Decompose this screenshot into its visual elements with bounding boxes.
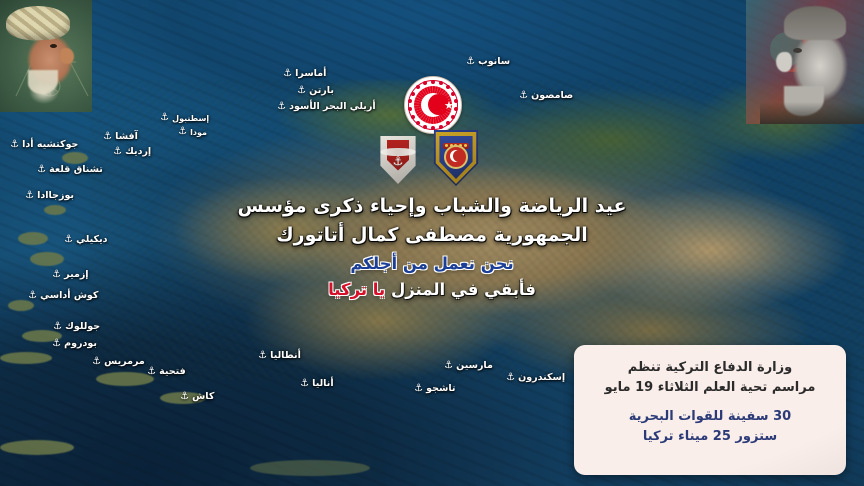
port-label-moda[interactable]: مودا⚓: [178, 127, 207, 137]
port-label-sinop[interactable]: سانوب⚓: [466, 56, 510, 67]
port-label-mersin[interactable]: مارسين⚓: [444, 360, 493, 371]
anchor-icon: ⚓: [113, 147, 122, 157]
island: [250, 460, 370, 476]
anchor-icon: ⚓: [444, 361, 453, 371]
anchor-icon: ⚓: [53, 322, 62, 332]
port-label-avsa[interactable]: آفشا⚓: [103, 131, 138, 142]
anchor-icon: ⚓: [103, 132, 112, 142]
anchor-icon: ⚓: [466, 57, 475, 67]
headline-line-3-blue: نحن نعمل من أجلكم: [0, 252, 864, 277]
portrait-nose: [60, 48, 74, 64]
port-name: تشناق قلعة: [49, 164, 103, 175]
port-label-alanya[interactable]: أناليا⚓: [300, 378, 334, 389]
anchor-icon: ⚓: [92, 357, 101, 367]
port-name: أناليا: [312, 378, 333, 389]
port-label-marmaris[interactable]: مرمريس⚓: [92, 356, 145, 367]
island: [62, 152, 88, 164]
info-card: وزارة الدفاع التركية تنظم مراسم تحية الع…: [574, 345, 846, 475]
island: [96, 372, 154, 386]
anchor-icon: ⚓: [178, 127, 187, 137]
anchor-icon: ⚓: [506, 373, 515, 383]
port-label-guluk[interactable]: جوللوك⚓: [53, 321, 100, 332]
headline-line-1: عيد الرياضة والشباب وإحياء ذكرى مؤسس: [0, 192, 864, 221]
info-top-line-1: وزارة الدفاع التركية تنظم: [588, 358, 832, 378]
port-name: بارتن: [309, 85, 334, 96]
anchor-icon: ⚓: [52, 339, 61, 349]
port-label-canakkale[interactable]: تشناق قلعة⚓: [37, 164, 103, 175]
info-card-bottom: 30 سفينة للقوات البحرية ستزور 25 ميناء ت…: [588, 407, 832, 447]
port-label-erdek[interactable]: إرديك⚓: [113, 146, 151, 157]
port-name: أنطاليا: [270, 350, 301, 361]
barbaros-portrait: [0, 0, 92, 112]
crescent-star-disc: [444, 145, 468, 169]
anchor-icon: ⚓: [519, 91, 528, 101]
port-label-bartin[interactable]: بارتن⚓: [297, 85, 334, 96]
headline-line-4-red: يا تركيا: [328, 280, 385, 299]
port-label-tasucu[interactable]: تاشجو⚓: [414, 383, 455, 394]
portrait-eye: [793, 48, 802, 53]
headline-line-4: فأبقي في المنزل يا تركيا: [0, 278, 864, 303]
anchor-icon: ⚓: [277, 102, 286, 112]
port-name: أماسرا: [295, 68, 326, 79]
anchor-icon: ⚓: [300, 379, 309, 389]
port-name: جوكتشيه أدا: [22, 139, 78, 150]
headline-block: عيد الرياضة والشباب وإحياء ذكرى مؤسس الج…: [0, 192, 864, 302]
port-label-gokceada[interactable]: جوكتشيه أدا⚓: [10, 139, 78, 150]
port-name: جوللوك: [65, 321, 100, 332]
ministry-of-defense-seal: ★: [404, 76, 462, 134]
port-label-antalya[interactable]: أنطاليا⚓: [258, 350, 301, 361]
anchor-icon: ⚓: [258, 351, 267, 361]
ataturk-portrait: [746, 0, 864, 124]
port-name: إسطنبول: [172, 114, 209, 123]
port-label-karadeniz-eregli[interactable]: أريلي البحر الأسود⚓: [277, 101, 376, 112]
port-name: بودروم: [64, 338, 97, 349]
anchor-icon: ⚓: [147, 367, 156, 377]
port-label-amasra[interactable]: أماسرا⚓: [283, 68, 326, 79]
port-name: كاش: [192, 391, 214, 402]
port-name: إرديك: [125, 146, 151, 157]
port-label-samsun[interactable]: صامصون⚓: [519, 90, 573, 101]
anchor-icon: ⚓: [393, 155, 404, 167]
port-label-kas[interactable]: كاش⚓: [180, 391, 214, 402]
anchor-icon: ⚓: [180, 392, 189, 402]
infographic-canvas: ★ ⚓ سانوب⚓صامصون⚓أماسرا⚓بارتن⚓أريلي البح…: [0, 0, 864, 486]
info-bottom-line-2: ستزور 25 ميناء تركيا: [588, 427, 832, 447]
anchor-icon: ⚓: [37, 165, 46, 175]
seal-inner-disc: ★: [414, 86, 452, 124]
headline-line-4-white: فأبقي في المنزل: [391, 280, 536, 299]
port-name: تاشجو: [426, 383, 455, 394]
info-bottom-line-1: 30 سفينة للقوات البحرية: [588, 407, 832, 427]
headline-line-2: الجمهورية مصطفى كمال أتاتورك: [0, 221, 864, 250]
island: [0, 352, 52, 364]
portrait-hair: [784, 6, 846, 40]
anchor-icon: ⚓: [414, 384, 423, 394]
portrait-collar: [760, 102, 864, 124]
crescent-icon: [421, 93, 445, 117]
portrait-turban: [6, 6, 70, 40]
portrait-eye: [50, 44, 57, 48]
port-name: مودا: [190, 128, 207, 137]
port-label-iskenderun[interactable]: إسكندرون⚓: [506, 372, 565, 383]
shield-body: [438, 136, 474, 179]
port-label-bodrum[interactable]: بودروم⚓: [52, 338, 97, 349]
anchor-icon: ⚓: [160, 113, 169, 123]
info-card-top: وزارة الدفاع التركية تنظم مراسم تحية الع…: [588, 358, 832, 398]
port-name: صامصون: [531, 90, 573, 101]
portrait-nose: [776, 52, 792, 72]
port-name: مرمريس: [104, 356, 145, 367]
port-name: آفشا: [115, 131, 138, 142]
port-label-istanbul[interactable]: إسطنبول⚓: [160, 113, 209, 123]
port-name: سانوب: [478, 56, 510, 67]
anchor-icon: ⚓: [10, 140, 19, 150]
port-name: إسكندرون: [518, 372, 565, 383]
anchor-icon: ⚓: [283, 69, 292, 79]
anchor-icon: ⚓: [297, 86, 306, 96]
port-name: مارسين: [456, 360, 493, 371]
info-top-line-2: مراسم تحية العلم الثلاثاء 19 مايو: [588, 378, 832, 398]
port-name: فتحية: [159, 366, 186, 377]
island: [0, 440, 74, 455]
port-name: أريلي البحر الأسود: [289, 101, 375, 112]
port-label-fethiye[interactable]: فتحية⚓: [147, 366, 186, 377]
